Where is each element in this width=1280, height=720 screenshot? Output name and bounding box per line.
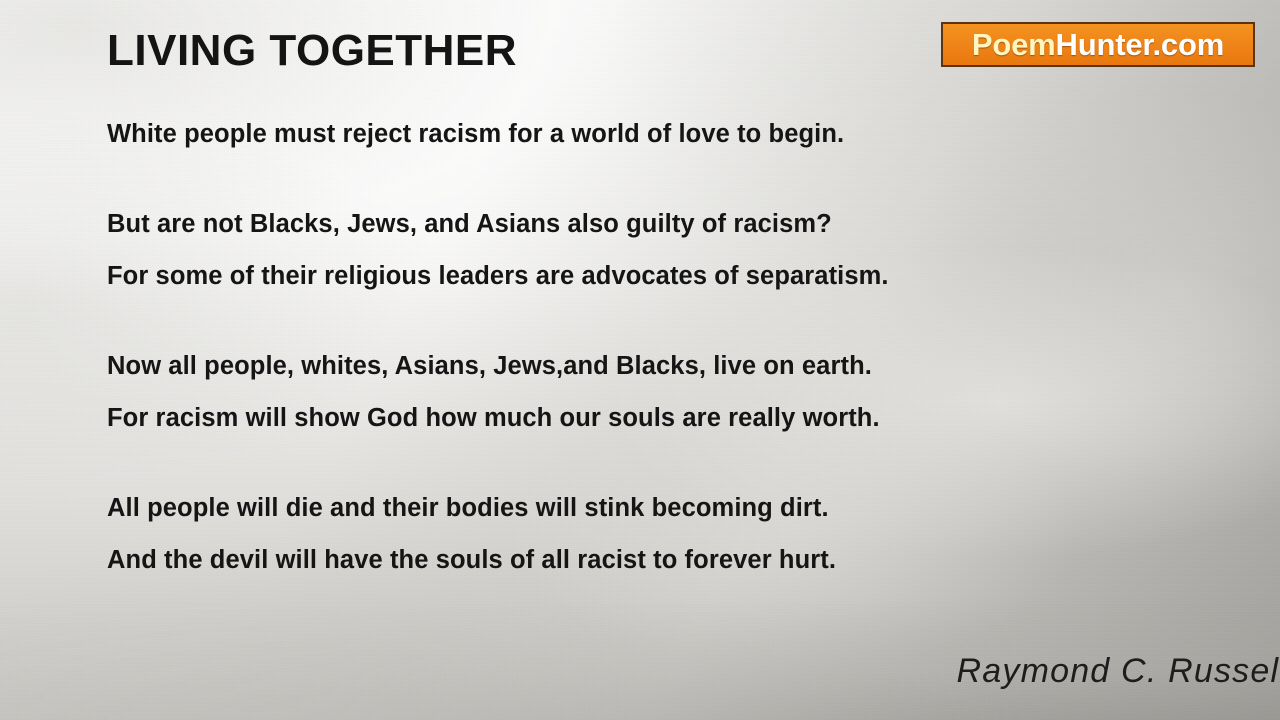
poem-line: For racism will show God how much our so… bbox=[107, 392, 1127, 444]
poem-slide: LIVING TOGETHER White people must reject… bbox=[0, 0, 1280, 720]
author-name: Raymond C. Russell bbox=[957, 652, 1280, 691]
poem-line: For some of their religious leaders are … bbox=[107, 250, 1127, 302]
logo-word-hunter: Hunter.com bbox=[1056, 27, 1225, 62]
poem-text: White people must reject racism for a wo… bbox=[107, 108, 1127, 586]
page-title: LIVING TOGETHER bbox=[107, 26, 517, 76]
stanza: But are not Blacks, Jews, and Asians als… bbox=[107, 198, 1127, 302]
stanza: All people will die and their bodies wil… bbox=[107, 482, 1127, 586]
poem-line: Now all people, whites, Asians, Jews,and… bbox=[107, 340, 1127, 392]
slide-content: LIVING TOGETHER White people must reject… bbox=[0, 0, 1280, 720]
stanza: White people must reject racism for a wo… bbox=[107, 108, 1127, 160]
stanza: Now all people, whites, Asians, Jews,and… bbox=[107, 340, 1127, 444]
poem-line: White people must reject racism for a wo… bbox=[107, 108, 1127, 160]
poem-line: All people will die and their bodies wil… bbox=[107, 482, 1127, 534]
poemhunter-logo-text: PoemHunter.com bbox=[972, 29, 1224, 60]
poem-line: But are not Blacks, Jews, and Asians als… bbox=[107, 198, 1127, 250]
logo-word-poem: Poem bbox=[972, 27, 1056, 62]
poem-line: And the devil will have the souls of all… bbox=[107, 534, 1127, 586]
poemhunter-logo[interactable]: PoemHunter.com bbox=[941, 22, 1255, 67]
